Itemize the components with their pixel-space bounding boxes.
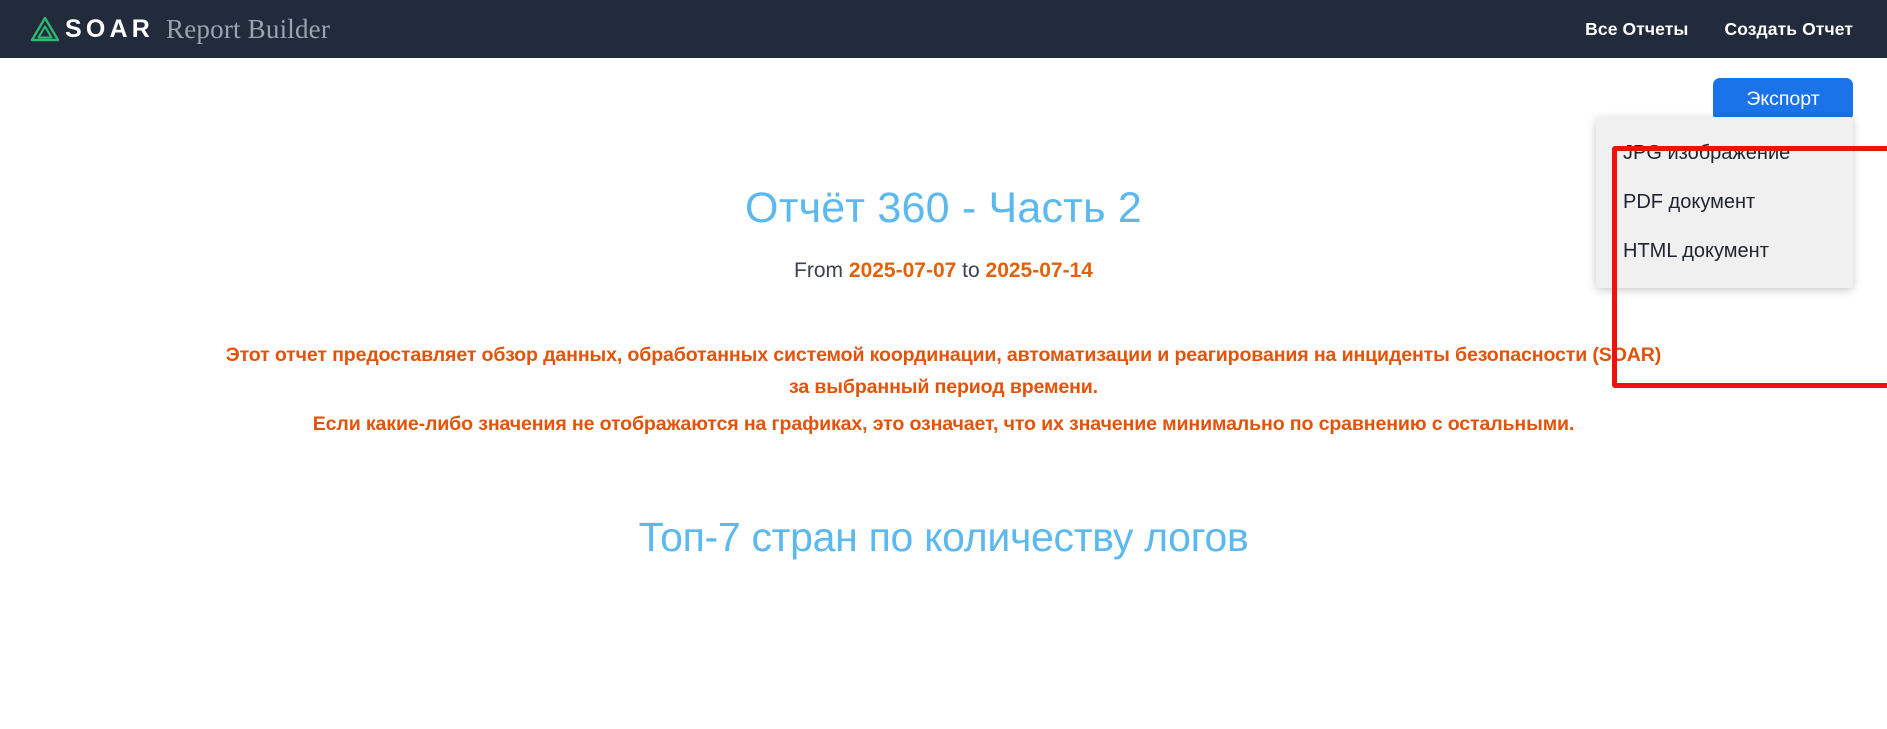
- range-end-date: 2025-07-14: [986, 259, 1093, 282]
- top-navbar: SOAR Report Builder Все Отчеты Создать О…: [0, 0, 1887, 58]
- triangle-logo-icon: [30, 15, 60, 43]
- brand-logo-link[interactable]: SOAR Report Builder: [30, 14, 330, 45]
- report-description: Этот отчет предоставляет обзор данных, о…: [0, 339, 1887, 440]
- brand-subtitle: Report Builder: [166, 14, 330, 45]
- nav-link-all-reports[interactable]: Все Отчеты: [1585, 19, 1688, 40]
- report-body: Отчёт 360 - Часть 2 From 2025-07-07 to 2…: [0, 58, 1887, 561]
- app-root: SOAR Report Builder Все Отчеты Создать О…: [0, 0, 1887, 729]
- page-title: Отчёт 360 - Часть 2: [0, 184, 1887, 233]
- section-heading-top-countries: Топ-7 стран по количеству логов: [0, 514, 1887, 561]
- nav-links: Все Отчеты Создать Отчет: [1585, 19, 1853, 40]
- nav-link-create-report[interactable]: Создать Отчет: [1724, 19, 1853, 40]
- report-date-range: From 2025-07-07 to 2025-07-14: [0, 259, 1887, 283]
- description-line-2: за выбранный период времени.: [30, 371, 1857, 403]
- range-start-date: 2025-07-07: [849, 259, 956, 282]
- range-prefix: From: [794, 259, 843, 282]
- range-middle: to: [962, 259, 980, 282]
- description-line-3: Если какие-либо значения не отображаются…: [30, 408, 1857, 440]
- brand-name: SOAR: [65, 15, 154, 44]
- description-line-1: Этот отчет предоставляет обзор данных, о…: [30, 339, 1857, 371]
